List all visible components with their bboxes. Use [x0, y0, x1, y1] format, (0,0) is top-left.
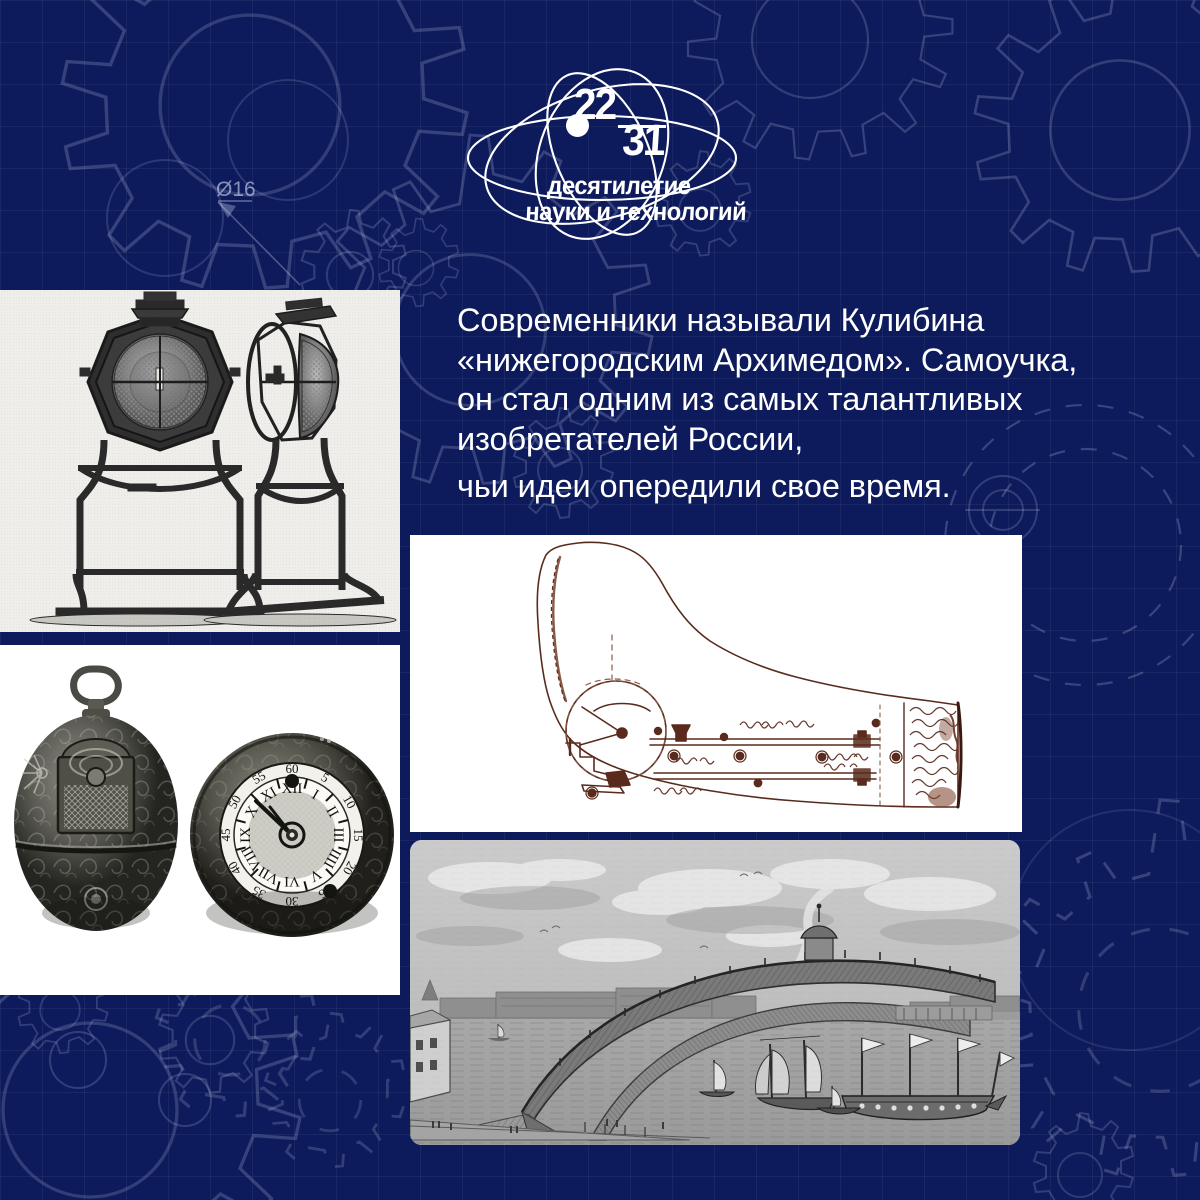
- svg-text:Ø16: Ø16: [216, 178, 256, 201]
- svg-text:45: 45: [218, 829, 233, 842]
- poster-canvas: Ø16: [0, 0, 1200, 1200]
- kulibin-egg-clock-photo: 60 5 10 15 20 25 30 35 40 45 50 55 XII I: [0, 645, 400, 995]
- headline-text: Современники называли Кулибина «нижегоро…: [457, 301, 1097, 507]
- egg-clock-dial: 60 5 10 15 20 25 30 35 40 45 50 55 XII I: [190, 733, 394, 937]
- headline-line-4: изобретателей России,: [457, 420, 1097, 460]
- svg-text:60: 60: [286, 761, 299, 776]
- logo-word-line1: десятилетие: [547, 174, 691, 199]
- kulibin-searchlight-lantern-photo: [0, 290, 400, 632]
- logo-year-start: 22: [574, 83, 615, 127]
- dimension-annotation: Ø16: [216, 178, 300, 285]
- logo-year-end: 31: [621, 119, 665, 163]
- headline-line-5: чьи идеи опередили свое время.: [457, 467, 1097, 507]
- headline-line-1: Современники называли Кулибина: [457, 301, 1097, 341]
- svg-text:VI: VI: [284, 873, 300, 889]
- decade-of-science-logo: 22 31 десятилетие науки и технологий: [462, 66, 742, 241]
- kulibin-prosthetic-leg-drawing: [410, 535, 1022, 832]
- headline-line-3: он стал одним из самых талантливых: [457, 380, 1097, 420]
- logo-years: 22 31: [574, 83, 714, 163]
- svg-text:IX: IX: [238, 827, 254, 843]
- svg-text:III: III: [330, 828, 346, 843]
- logo-word-line2: науки и технологий: [525, 200, 747, 225]
- kulibin-neva-arch-bridge-engraving: [410, 840, 1020, 1145]
- headline-line-2: «нижегородским Архимедом». Самоучка,: [457, 341, 1097, 381]
- svg-text:15: 15: [351, 829, 366, 842]
